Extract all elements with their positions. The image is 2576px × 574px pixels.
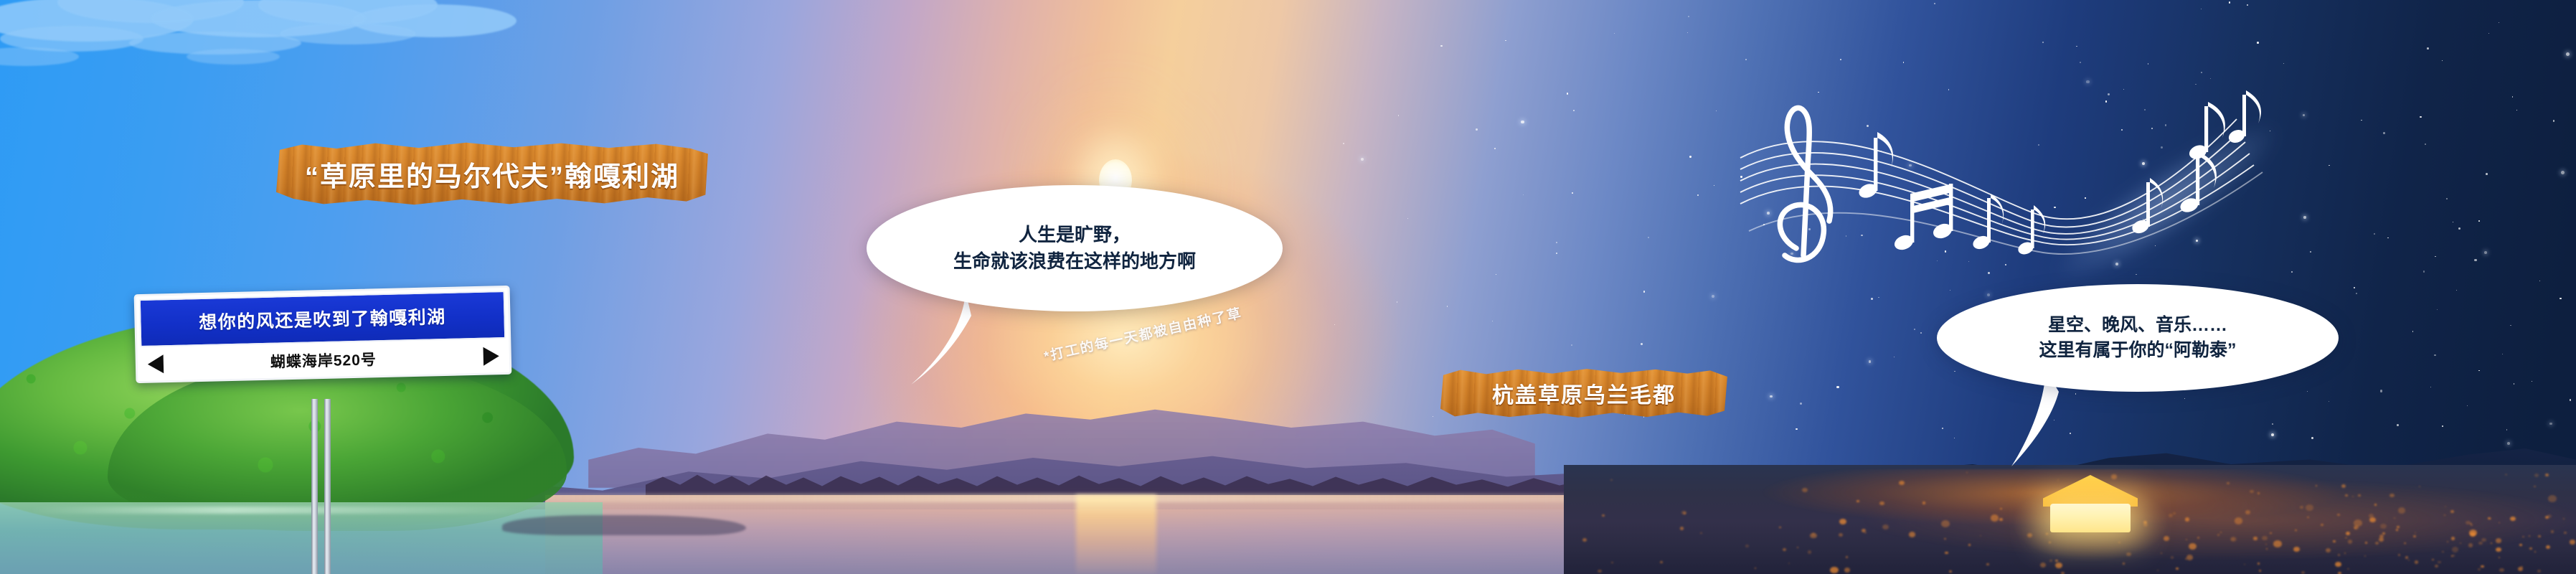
flower-light [1681,511,1686,515]
flower-light [2444,514,2445,516]
flower-light [2451,555,2453,557]
flower-light [2442,551,2444,552]
flower-light [2451,537,2455,540]
road-sign-subtitle: 蝴蝶海岸520号 [270,348,377,372]
arrow-right-icon[interactable] [483,347,499,366]
left-lake-highlight [29,507,531,514]
flower-light [1922,502,1926,504]
flower-light [2478,568,2481,570]
flower-light [2295,530,2297,531]
treble-clef-icon [1780,108,1830,260]
flower-light [2262,536,2268,540]
flower-light [2394,517,2395,519]
flower-light [2227,482,2230,485]
flower-light [2469,530,2477,536]
flower-light [2413,535,2417,538]
flower-light [2499,568,2504,572]
wood-sign-1-label: “草原里的马尔代夫”翰嘎利湖 [305,154,679,194]
flower-light [1797,547,1798,548]
flower-light [1602,514,1605,517]
flower-light [2380,524,2387,529]
flower-light [2293,547,2300,552]
flower-light [2235,517,2242,524]
flower-light [2345,537,2346,539]
flower-light [2529,547,2532,550]
flower-light [2326,548,2331,552]
flower-light [2365,542,2368,544]
flower-light [1966,472,1968,474]
flower-light [2369,517,2376,522]
flower-light [1844,568,1850,572]
flower-light [2307,517,2309,518]
flower-light [2438,561,2441,564]
flower-light [2452,547,2458,552]
bubble-2-line-1: 星空、晚风、音乐…… [2048,313,2227,339]
flower-light [2341,484,2346,488]
flower-light [1879,502,1884,506]
flower-light [1830,567,1838,573]
flower-light [2499,522,2500,524]
flower-light [1986,563,1989,565]
flower-light [2389,494,2394,497]
flower-light [2375,542,2379,545]
flower-light [2415,560,2419,564]
flower-light [2345,494,2348,497]
flower-light [2347,568,2349,570]
flower-light [2450,510,2455,514]
flower-light [2358,494,2361,497]
flower-light [2481,565,2483,568]
flower-light [1779,527,1781,529]
road-sign[interactable]: 想你的风还是吹到了翰嘎利湖 蝴蝶海岸520号 [135,290,511,379]
flower-light [2415,532,2416,534]
flower-light [1610,479,1613,481]
flower-light [2478,542,2483,545]
flower-light [1582,538,1587,542]
arrow-left-icon[interactable] [148,354,164,374]
flower-light [1882,524,1889,530]
flower-light [2374,504,2377,506]
flower-light [2404,542,2406,544]
flower-light [1839,519,1846,524]
flower-light [2522,536,2524,538]
flower-light [2545,474,2549,476]
flower-light [2471,524,2473,526]
flower-light [2534,474,2539,477]
flower-light [2548,495,2557,502]
flower-light [2564,532,2567,534]
bubble-1-line-1: 人生是旷野， [1019,222,1131,248]
flower-light [2352,496,2354,497]
flower-light [2253,537,2257,540]
flower-light [1944,538,1946,540]
flower-light [2259,570,2261,572]
flower-light [2432,559,2434,560]
flower-light [1941,520,1950,527]
flower-light [2419,486,2420,487]
flower-light [2344,552,2346,554]
flower-light [2398,554,2400,555]
music-staff-illustration [1735,50,2294,265]
flower-light [2491,542,2492,544]
flower-light [2546,545,2550,549]
flower-light [1909,532,1916,537]
sun-reflection [1076,495,1156,574]
flower-light [2316,485,2317,486]
flower-light [2537,570,2541,573]
flower-light [2397,526,2400,528]
flower-light [2220,532,2222,533]
flower-light [2244,564,2245,565]
flower-light [1839,533,1843,537]
flower-light [2534,551,2536,552]
flower-light [2570,540,2575,544]
flower-light [2266,548,2268,550]
flower-light [2321,524,2323,526]
flower-light [2518,567,2524,571]
flower-light [2157,570,2159,571]
flower-light [2538,535,2541,537]
panorama-banner: “草原里的马尔代夫”翰嘎利湖 杭盖草原乌兰毛都 想你的风还是吹到了翰嘎利湖 蝴蝶… [0,0,2576,574]
flower-light [2364,555,2366,557]
flower-light [2396,529,2398,530]
flower-light [2338,554,2340,556]
flower-light [2270,532,2272,534]
flower-light [2265,544,2267,545]
flower-light [2534,486,2536,488]
speech-bubble-life-is-wilderness[interactable]: 人生是旷野， 生命就该浪费在这样的地方啊 [867,185,1283,311]
road-sign-board[interactable]: 想你的风还是吹到了翰嘎利湖 蝴蝶海岸520号 [134,286,512,383]
road-sign-blue-panel: 想你的风还是吹到了翰嘎利湖 [139,291,506,347]
flower-light [2398,507,2405,513]
flower-light [2545,516,2549,519]
flower-light [2460,542,2462,544]
flower-light [2519,544,2521,546]
flower-light [2435,565,2438,568]
flower-light [1755,568,1756,569]
rocky-shore [502,515,746,535]
flower-light [2273,540,2282,547]
flower-light [2245,510,2251,514]
road-sign-pole-left [311,399,318,574]
bubble-2-line-2: 这里有属于你的“阿勒泰” [2039,338,2236,364]
flower-light [1846,556,1848,558]
wood-sign-hanggai-grassland[interactable]: 杭盖草原乌兰毛都 [1440,367,1727,419]
road-sign-pole-right [324,399,331,574]
speech-bubble-your-altay[interactable]: 星空、晚风、音乐…… 这里有属于你的“阿勒泰” [1937,284,2339,392]
flower-light [1802,488,1808,492]
road-sign-headline: 想你的风还是吹到了翰嘎利湖 [152,301,493,335]
flower-light [2496,547,2501,552]
flower-light [1949,570,1952,573]
flower-light [2563,518,2565,519]
flower-light [1598,570,1602,573]
flower-light [1611,562,1613,564]
wood-sign-hangali-lake[interactable]: “草原里的马尔代夫”翰嘎利湖 [276,141,708,207]
flower-light [1745,545,1749,548]
flower-light [2447,541,2448,542]
flower-light [1783,548,1786,551]
flower-light [2348,540,2353,543]
flower-light [2197,537,2199,539]
yurt-icon [2043,475,2138,532]
yurt-body [2050,504,2131,532]
flower-light [1660,561,1663,563]
flower-light [2490,518,2491,519]
flower-light [2300,506,2303,509]
flower-light [2257,492,2260,494]
flower-light [2217,534,2220,536]
bubble-1-line-2: 生命就该浪费在这样的地方啊 [953,248,1196,275]
flower-light [2382,532,2385,535]
flower-light [2335,562,2341,567]
flower-light [1945,552,1948,555]
cloud-cluster-left [0,0,560,143]
flower-light [1700,532,1702,534]
flower-light [2445,506,2447,507]
flower-light [2301,571,2305,574]
flower-light [2306,504,2313,511]
flower-light [1899,481,1905,485]
flower-light [1864,532,1866,534]
flower-light [1980,535,1981,537]
flower-light [2529,535,2530,537]
wood-sign-2-label: 杭盖草原乌兰毛都 [1492,377,1676,409]
flower-light [1680,527,1684,530]
flower-light [2505,474,2506,476]
flower-light [2346,532,2350,535]
flower-light [1808,550,1811,553]
flower-light [1788,563,1790,564]
flower-light [2354,519,2362,527]
flower-light [2551,530,2554,533]
flower-light [2499,557,2500,558]
flower-light [1856,500,1859,502]
flower-light [2468,543,2473,547]
flower-light [2061,572,2065,574]
flower-light [2510,517,2516,522]
flower-light [2337,514,2340,516]
flower-light [2496,538,2501,542]
flower-light [2257,563,2260,565]
flower-light [1810,533,1817,539]
flower-light [2250,490,2254,494]
flower-light [2408,560,2410,561]
flower-light [1968,544,1971,546]
flower-light [2333,540,2336,542]
flower-light [2405,556,2408,559]
flower-light [2189,543,2197,550]
road-sign-white-panel: 蝴蝶海岸520号 [137,342,509,381]
